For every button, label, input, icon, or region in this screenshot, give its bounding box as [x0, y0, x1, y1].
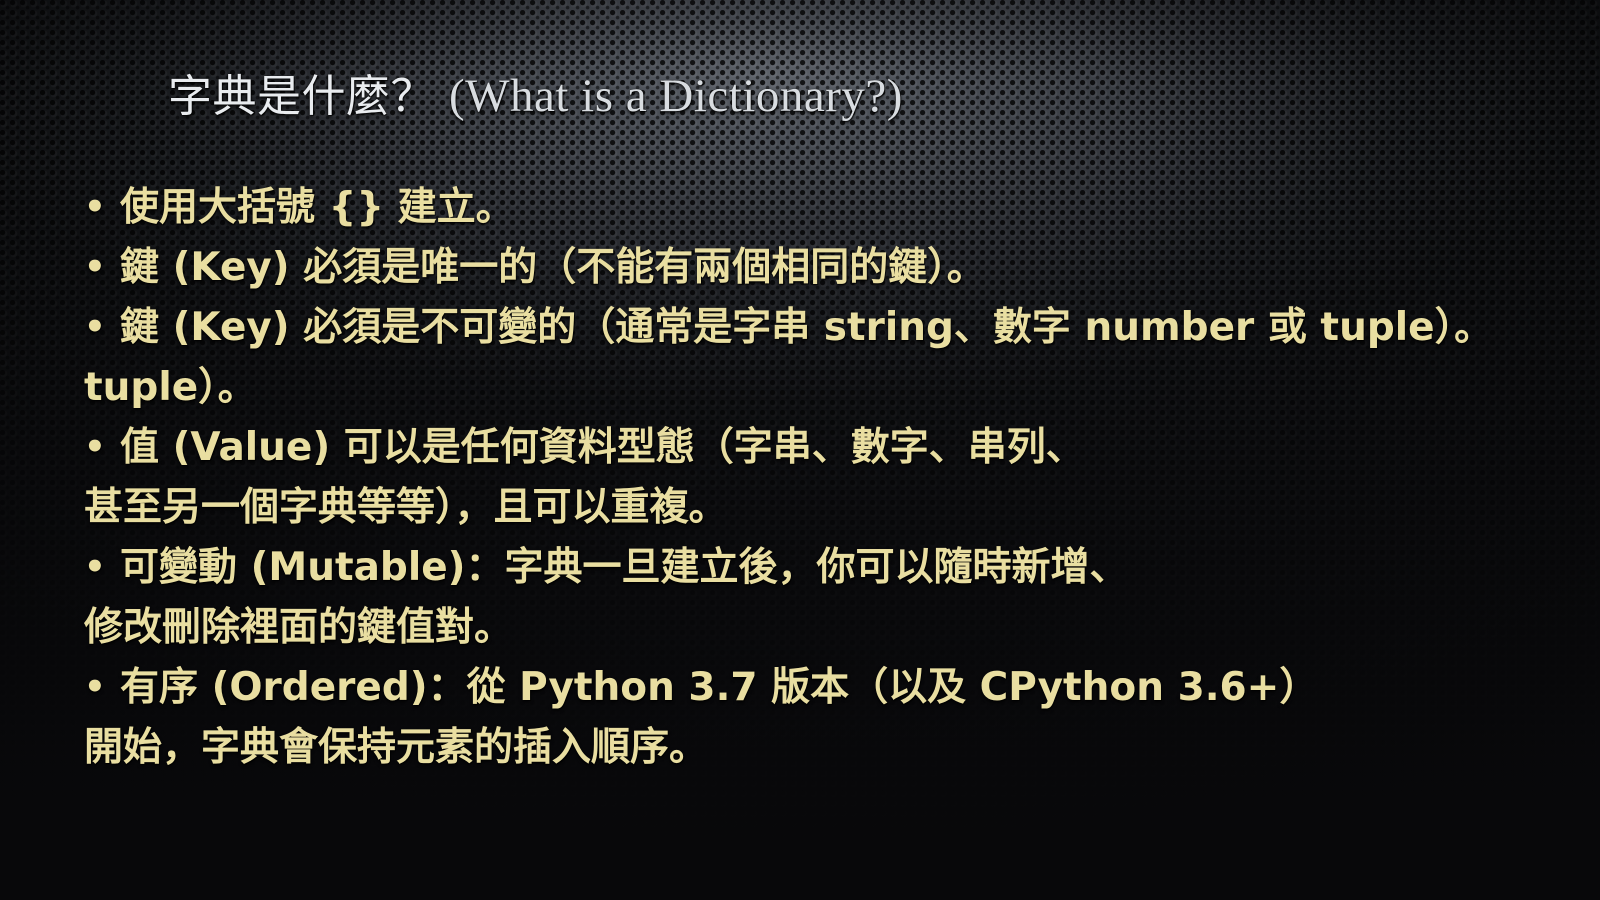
bullet-continuation-line: tuple）。	[0, 358, 1600, 418]
slide-title-english: (What is a Dictionary?)	[449, 70, 903, 122]
bullet-line: • 使用大括號 {} 建立。	[0, 178, 1600, 238]
bullet-text: 值 (Value) 可以是任何資料型態（字串、數字、串列、	[120, 418, 1085, 478]
slide-title-chinese: 字典是什麼？	[168, 71, 435, 122]
presentation-slide: 字典是什麼？(What is a Dictionary?) • 使用大括號 {}…	[0, 0, 1600, 900]
bullet-continuation-line: 甚至另一個字典等等），且可以重複。	[0, 478, 1600, 538]
bullet-text: 鍵 (Key) 必須是不可變的（通常是字串 string、數字 number 或…	[120, 298, 1493, 358]
bullet-text: 甚至另一個字典等等），且可以重複。	[84, 478, 728, 538]
bullet-text: 修改刪除裡面的鍵值對。	[84, 598, 513, 658]
bullet-line: • 鍵 (Key) 必須是不可變的（通常是字串 string、數字 number…	[0, 298, 1600, 358]
bullet-text: 鍵 (Key) 必須是唯一的（不能有兩個相同的鍵）。	[120, 238, 986, 298]
bullet-line: • 可變動 (Mutable)：字典一旦建立後，你可以隨時新增、	[0, 538, 1600, 598]
bullet-marker-icon: •	[84, 238, 110, 298]
slide-body: • 使用大括號 {} 建立。 • 鍵 (Key) 必須是唯一的（不能有兩個相同的…	[0, 178, 1600, 778]
bullet-line: • 值 (Value) 可以是任何資料型態（字串、數字、串列、	[0, 418, 1600, 478]
bullet-text: 使用大括號 {} 建立。	[120, 178, 515, 238]
bullet-marker-icon: •	[84, 418, 110, 478]
bullet-continuation-line: 修改刪除裡面的鍵值對。	[0, 598, 1600, 658]
bullet-marker-icon: •	[84, 178, 110, 238]
bullet-marker-icon: •	[84, 298, 110, 358]
bullet-text: 開始，字典會保持元素的插入順序。	[84, 718, 708, 778]
bullet-line: • 鍵 (Key) 必須是唯一的（不能有兩個相同的鍵）。	[0, 238, 1600, 298]
bullet-text: 有序 (Ordered)：從 Python 3.7 版本（以及 CPython …	[120, 658, 1318, 718]
bullet-continuation-line: 開始，字典會保持元素的插入順序。	[0, 718, 1600, 778]
bullet-text: 可變動 (Mutable)：字典一旦建立後，你可以隨時新增、	[120, 538, 1129, 598]
bullet-marker-icon: •	[84, 658, 110, 718]
bullet-marker-icon: •	[84, 538, 110, 598]
slide-title: 字典是什麼？(What is a Dictionary?)	[168, 72, 903, 121]
bullet-line: • 有序 (Ordered)：從 Python 3.7 版本（以及 CPytho…	[0, 658, 1600, 718]
bullet-text: tuple）。	[84, 358, 257, 418]
